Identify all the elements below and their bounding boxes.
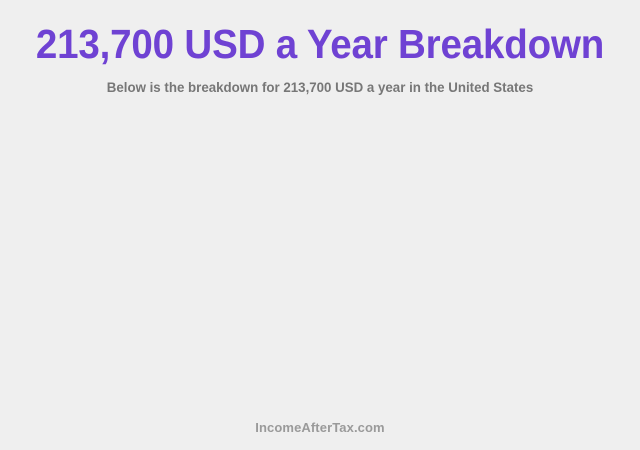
page-root: 213,700 USD a Year Breakdown Below is th… — [0, 0, 640, 450]
content-area — [0, 96, 640, 420]
page-subtitle: Below is the breakdown for 213,700 USD a… — [16, 79, 624, 96]
page-footer: IncomeAfterTax.com — [0, 420, 640, 450]
page-title: 213,700 USD a Year Breakdown — [19, 20, 621, 68]
footer-watermark: IncomeAfterTax.com — [0, 420, 640, 435]
page-header: 213,700 USD a Year Breakdown Below is th… — [0, 0, 640, 96]
